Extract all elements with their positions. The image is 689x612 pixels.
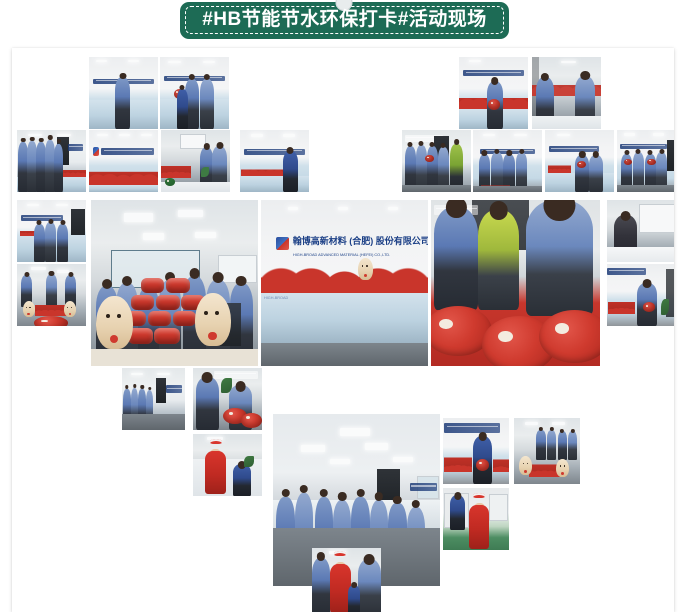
gallery-photo[interactable] <box>607 264 674 326</box>
gallery-photo[interactable] <box>607 200 674 262</box>
gallery-photo[interactable] <box>17 130 86 192</box>
gallery-photo[interactable] <box>89 57 158 129</box>
gallery-photo[interactable] <box>617 130 674 192</box>
gallery-photo[interactable] <box>193 434 262 496</box>
counter-logo-text: HIGH-BROAD <box>264 296 288 300</box>
page-title: #HB节能节水环保打卡#活动现场 <box>202 9 487 31</box>
gallery-photo[interactable] <box>402 130 471 192</box>
gallery-photo[interactable] <box>160 57 229 129</box>
gallery-photo[interactable] <box>122 368 185 430</box>
gallery-photo[interactable] <box>431 200 600 366</box>
page-header: #HB节能节水环保打卡#活动现场 <box>0 0 689 48</box>
gallery-photo[interactable] <box>545 130 614 192</box>
company-sign-chinese: 翰博高新材料 (合肥) 股份有限公司 <box>293 237 428 246</box>
company-sign-english: HIGH-BROAD ADVANCED MATERIAL (HEFEI) CO.… <box>293 253 390 257</box>
screenshot-root: #HB节能节水环保打卡#活动现场 <box>0 0 689 612</box>
gallery-photo[interactable] <box>312 548 381 612</box>
gallery-photo[interactable] <box>459 57 528 129</box>
gallery-photo[interactable] <box>473 130 542 192</box>
gallery-photo[interactable] <box>17 264 86 326</box>
title-banner: #HB节能节水环保打卡#活动现场 <box>180 2 509 39</box>
gallery-photo[interactable] <box>161 130 230 192</box>
gallery-photo[interactable] <box>193 368 262 430</box>
gallery-photo[interactable] <box>514 418 580 484</box>
gallery-photo[interactable] <box>89 130 158 192</box>
gallery-photo-featured[interactable] <box>91 200 258 366</box>
gallery-photo[interactable] <box>532 57 601 129</box>
gallery-photo[interactable] <box>240 130 309 192</box>
gallery-photo[interactable] <box>443 418 509 484</box>
gallery-photo[interactable] <box>17 200 86 262</box>
gallery-photo-company-sign[interactable]: 翰博高新材料 (合肥) 股份有限公司 HIGH-BROAD ADVANCED M… <box>261 200 428 366</box>
photo-wall-card: 翰博高新材料 (合肥) 股份有限公司 HIGH-BROAD ADVANCED M… <box>12 48 674 612</box>
gallery-photo[interactable] <box>443 488 509 550</box>
